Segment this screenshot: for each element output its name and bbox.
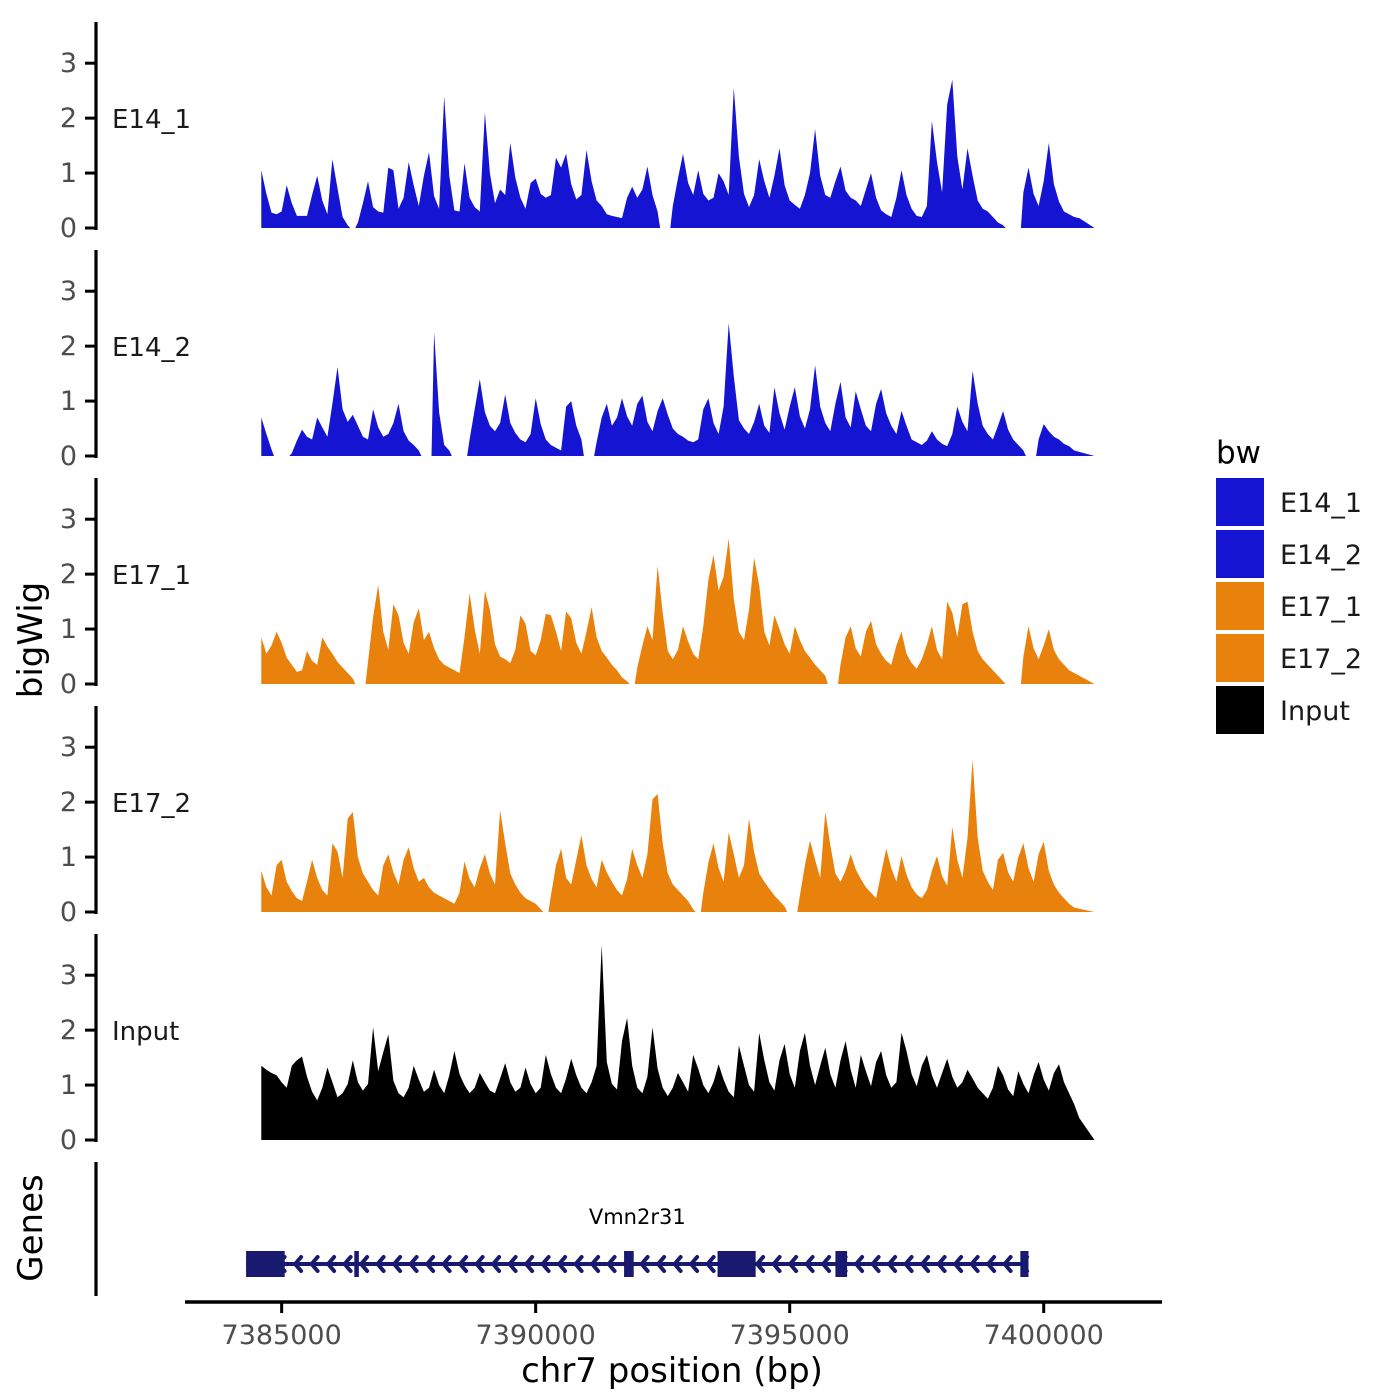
y-tick-label: 3 [60,504,77,535]
x-tick-label: 7390000 [476,1320,596,1351]
y-tick-label: 1 [60,386,77,417]
legend-swatch [1216,478,1264,526]
y-tick-label: 0 [60,441,77,472]
genome-browser-figure: 0123E14_10123E14_20123E17_10123E17_20123… [0,0,1400,1400]
y-tick-label: 2 [60,559,77,590]
gene-name-label: Vmn2r31 [589,1205,686,1229]
legend-label: Input [1280,696,1350,727]
y-tick-label: 2 [60,103,77,134]
x-tick-label: 7400000 [984,1320,1104,1351]
x-tick-label: 7385000 [222,1320,342,1351]
legend-label: E17_1 [1280,592,1362,623]
y-tick-label: 1 [60,614,77,645]
y-tick-label: 3 [60,960,77,991]
x-axis-title: chr7 position (bp) [521,1351,823,1391]
y-tick-label: 3 [60,732,77,763]
y-tick-label: 0 [60,1125,77,1156]
y-tick-label: 3 [60,48,77,79]
gene-exon [354,1251,359,1277]
track-label-e14_2: E14_2 [112,333,191,363]
gene-exon [246,1251,285,1277]
figure-root: 0123E14_10123E14_20123E17_10123E17_20123… [0,0,1400,1400]
y-tick-label: 0 [60,897,77,928]
genes-axis-title: Genes [11,1174,51,1281]
legend-swatch [1216,582,1264,630]
legend-swatch [1216,530,1264,578]
x-tick-label: 7395000 [730,1320,850,1351]
legend-title: bw [1216,435,1261,471]
y-tick-label: 2 [60,331,77,362]
gene-exon [624,1251,634,1277]
track-label-input: Input [112,1017,179,1047]
y-tick-label: 2 [60,787,77,818]
legend-label: E17_2 [1280,644,1362,675]
legend-label: E14_2 [1280,540,1362,571]
y-tick-label: 1 [60,158,77,189]
y-tick-label: 0 [60,669,77,700]
legend-swatch [1216,686,1264,734]
y-tick-label: 3 [60,276,77,307]
track-label-e17_1: E17_1 [112,561,191,591]
y-tick-label: 0 [60,213,77,244]
legend-label: E14_1 [1280,488,1362,519]
gene-exon [835,1251,847,1277]
track-label-e17_2: E17_2 [112,789,191,819]
y-tick-label: 2 [60,1015,77,1046]
y-tick-label: 1 [60,842,77,873]
y-axis-title: bigWig [11,582,51,699]
track-label-e14_1: E14_1 [112,105,191,135]
y-tick-label: 1 [60,1070,77,1101]
gene-exon [1020,1251,1028,1277]
legend-swatch [1216,634,1264,682]
gene-exon [718,1251,756,1277]
